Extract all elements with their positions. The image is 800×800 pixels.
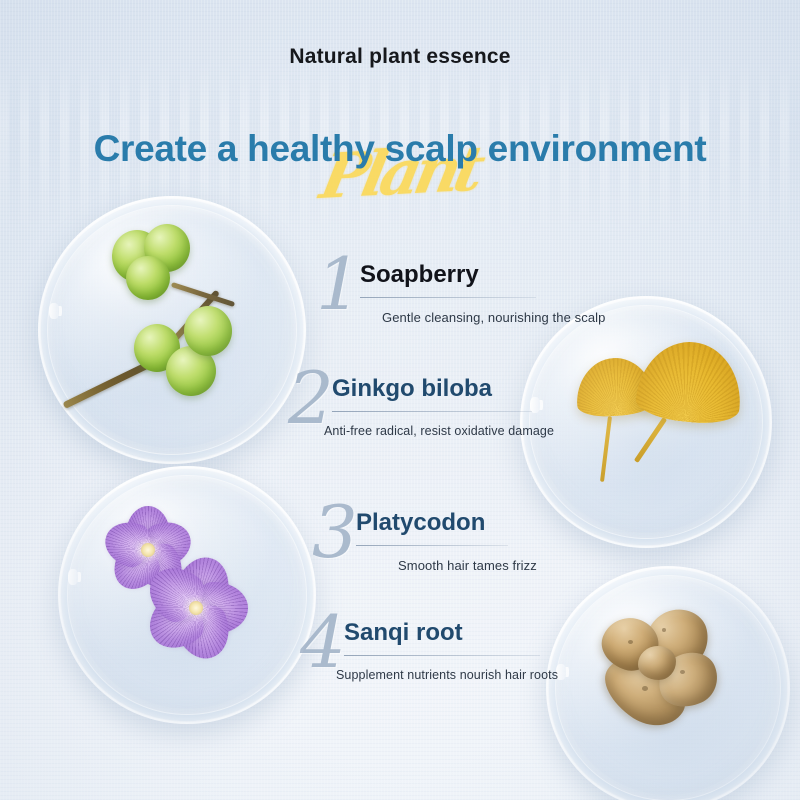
divider — [356, 545, 508, 546]
ingredient-name: Sanqi root — [344, 620, 558, 646]
petri-dish-sanqi — [546, 566, 790, 800]
eyebrow-text: Natural plant essence — [0, 45, 800, 69]
dish-inner-rim — [529, 305, 763, 539]
ingredient-description: Smooth hair tames frizz — [398, 558, 537, 573]
divider — [332, 411, 532, 412]
divider — [360, 297, 536, 298]
dish-highlight — [556, 664, 566, 680]
ingredient-name: Soapberry — [360, 262, 606, 288]
page-title: Create a healthy scalp environment — [0, 128, 800, 170]
petri-dish-soapberry — [38, 196, 306, 464]
ingredient-number: 3 — [312, 496, 358, 568]
ingredient-name: Ginkgo biloba — [332, 376, 554, 402]
platycodon-flower-front — [140, 552, 252, 664]
dish-highlight — [68, 569, 78, 585]
product-poster: Plant Natural plant essence Create a hea… — [0, 0, 800, 800]
ingredient-name: Platycodon — [356, 510, 537, 536]
dish-highlight — [49, 303, 59, 319]
petri-dish-ginkgo — [520, 296, 772, 548]
ingredient-number: 1 — [316, 248, 362, 320]
petri-dish-platycodon — [58, 466, 316, 724]
dish-highlight — [530, 397, 540, 413]
ingredient-description: Supplement nutrients nourish hair roots — [336, 668, 558, 682]
divider — [344, 655, 540, 656]
